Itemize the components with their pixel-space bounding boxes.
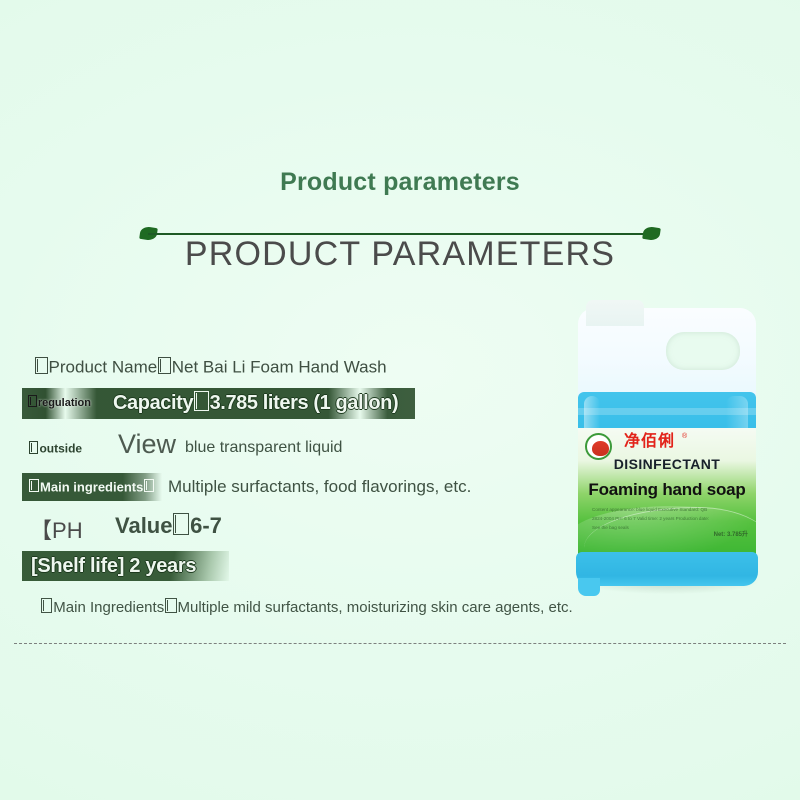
- bottle-spout: [586, 300, 644, 326]
- spec-value-ph: Value6-7: [115, 513, 222, 539]
- spec-key-ingredients: Main ingredients: [28, 479, 155, 494]
- spec-value-capacity: Capacity3.785 liters (1 gallon): [113, 391, 398, 415]
- bottle-foot: [576, 552, 758, 586]
- spec-row-ingredients-detail: Main IngredientsMultiple mild surfactant…: [40, 598, 573, 616]
- bottle-handle-hole: [666, 332, 740, 370]
- bracket-glyph-icon: [41, 598, 52, 613]
- spec-key-appearance: outside: [28, 441, 82, 456]
- label-fineprint: Content appearance: blue liquid Executiv…: [592, 506, 712, 533]
- bottle-foot-tab: [578, 578, 600, 596]
- bracket-glyph-icon: [158, 357, 171, 374]
- bracket-glyph-icon: [29, 479, 39, 492]
- label-net-content: Net: 3.785升: [714, 529, 748, 538]
- product-image-bottle: 净佰俐 ® DISINFECTANT Foaming hand soap Con…: [574, 300, 760, 600]
- spec-key-ingredients-detail: Main Ingredients: [53, 599, 164, 616]
- spec-value-product-name: Net Bai Li Foam Hand Wash: [172, 358, 387, 377]
- spec-row-product-name: Product NameNet Bai Li Foam Hand Wash: [34, 357, 387, 378]
- label-brand-name: 净佰俐: [624, 434, 675, 450]
- bracket-glyph-icon: [29, 441, 38, 454]
- bracket-glyph-icon: [144, 479, 154, 492]
- bracket-glyph-icon: [35, 357, 48, 374]
- spec-key-ph: 【PH: [30, 513, 83, 545]
- spec-value-ingredients-detail: Multiple mild surfactants, moisturizing …: [178, 599, 573, 616]
- label-registered-mark: ®: [682, 433, 687, 440]
- product-parameters-page: Product parameters PRODUCT PARAMETERS Pr…: [0, 0, 800, 800]
- bracket-glyph-icon: [28, 395, 37, 407]
- bottle-label: 净佰俐 ® DISINFECTANT Foaming hand soap Con…: [578, 428, 756, 554]
- brand-seal-inner: [592, 441, 609, 456]
- bracket-glyph-icon: [194, 391, 208, 411]
- section-divider-dashed: [14, 643, 786, 644]
- label-subtitle: Foaming hand soap: [578, 480, 756, 500]
- bracket-glyph-icon: [165, 598, 176, 613]
- spec-value-ingredients: Multiple surfactants, food flavorings, e…: [168, 477, 471, 497]
- spec-key-capacity: regulation: [27, 395, 91, 409]
- spec-key-appearance-emphasis: View: [118, 429, 176, 460]
- label-title: DISINFECTANT: [578, 456, 756, 472]
- spec-value-shelf-life: [Shelf life] 2 years: [31, 555, 196, 578]
- bracket-glyph-icon: [173, 513, 189, 534]
- spec-value-appearance: blue transparent liquid: [185, 439, 342, 457]
- spec-key-product-name: Product Name: [49, 358, 158, 377]
